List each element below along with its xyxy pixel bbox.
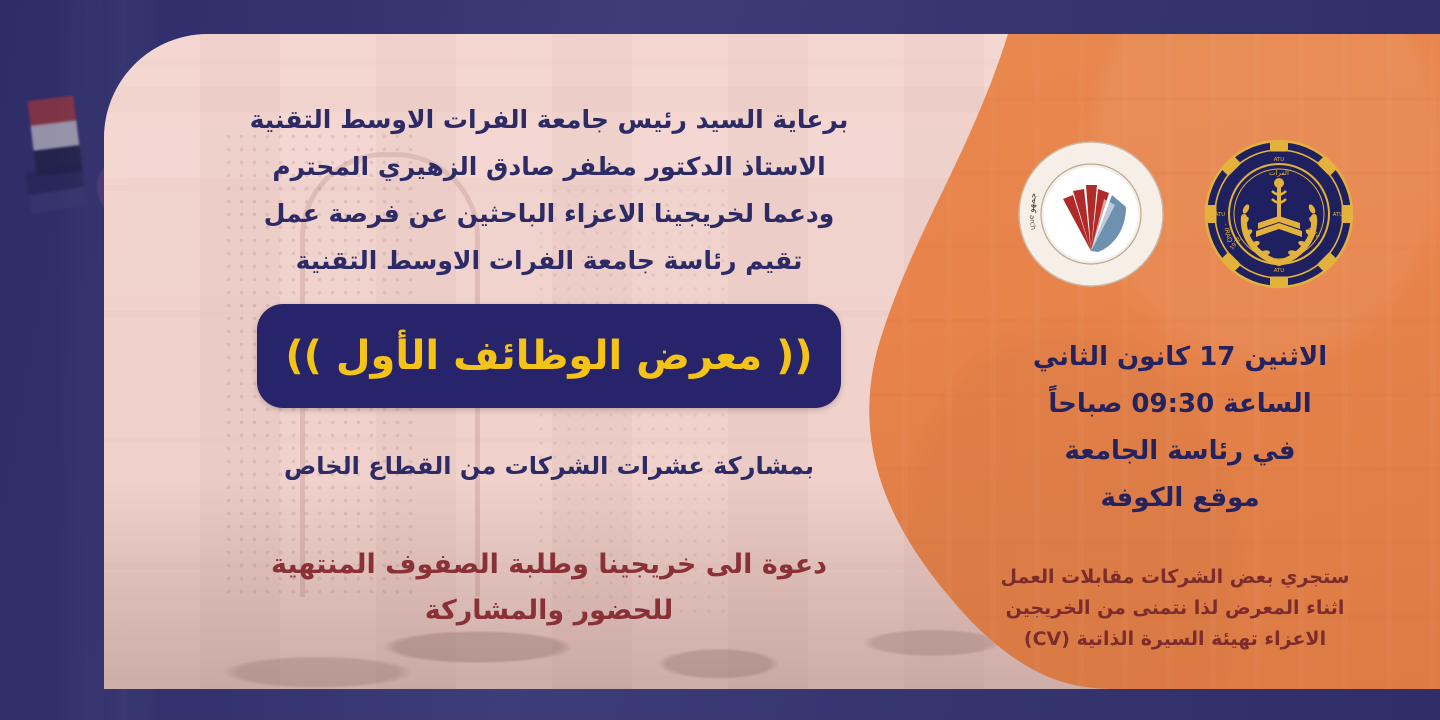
event-title-text: (( معرض الوظائف الأول )): [285, 333, 812, 379]
event-time: الساعة 09:30 صباحاً: [990, 381, 1370, 428]
intro-line-1: برعاية السيد رئيس جامعة الفرات الاوسط ال…: [164, 96, 934, 143]
cv-note-line-2: اثناء المعرض لذا نتمنى من الخريجين: [980, 593, 1370, 624]
event-title-banner: (( معرض الوظائف الأول )): [257, 304, 841, 408]
university-seal-icon: الفرات 1972 2014 AL-FURAT AL-AWSAT TECHN…: [1204, 139, 1354, 289]
backdrop-banner-shape: [25, 164, 87, 214]
logo-row: الفرات 1972 2014 AL-FURAT AL-AWSAT TECHN…: [1016, 139, 1354, 289]
invitation-block: دعوة الى خريجينا وطلبة الصفوف المنتهية ل…: [164, 542, 934, 634]
intro-line-4: تقيم رئاسة جامعة الفرات الاوسط التقنية: [164, 237, 934, 284]
event-venue: في رئاسة الجامعة: [990, 428, 1370, 475]
svg-text:ATU: ATU: [1215, 212, 1226, 218]
poster-root: برعاية السيد رئيس جامعة الفرات الاوسط ال…: [0, 0, 1440, 720]
invitation-line-2: للحضور والمشاركة: [164, 588, 934, 634]
cv-note-block: ستجري بعض الشركات مقابلات العمل اثناء ال…: [980, 562, 1370, 655]
event-details-block: الاثنين 17 كانون الثاني الساعة 09:30 صبا…: [990, 334, 1370, 522]
subtitle-text: بمشاركة عشرات الشركات من القطاع الخاص: [164, 452, 934, 480]
svg-text:ATU: ATU: [1274, 268, 1285, 274]
ministry-of-higher-education-icon: Republic of Iraq Ministry of Higher Educ…: [1016, 139, 1166, 289]
event-date: الاثنين 17 كانون الثاني: [990, 334, 1370, 381]
intro-line-3: ودعما لخريجينا الاعزاء الباحثين عن فرصة …: [164, 190, 934, 237]
event-location: موقع الكوفة: [990, 475, 1370, 522]
intro-line-2: الاستاذ الدكتور مظفر صادق الزهيري المحتر…: [164, 143, 934, 190]
seal-arabic-label: الفرات: [1269, 169, 1289, 177]
svg-text:ATU: ATU: [1333, 212, 1344, 218]
university-seal-logo: الفرات 1972 2014 AL-FURAT AL-AWSAT TECHN…: [1204, 139, 1354, 289]
poster-card: برعاية السيد رئيس جامعة الفرات الاوسط ال…: [104, 34, 1440, 689]
ministry-logo: Republic of Iraq Ministry of Higher Educ…: [1016, 139, 1166, 289]
svg-text:ATU: ATU: [1274, 157, 1285, 163]
left-content-column: برعاية السيد رئيس جامعة الفرات الاوسط ال…: [164, 96, 934, 634]
invitation-line-1: دعوة الى خريجينا وطلبة الصفوف المنتهية: [164, 542, 934, 588]
cv-note-line-3: الاعزاء تهيئة السيرة الذاتية (CV): [980, 624, 1370, 655]
cv-note-line-1: ستجري بعض الشركات مقابلات العمل: [980, 562, 1370, 593]
